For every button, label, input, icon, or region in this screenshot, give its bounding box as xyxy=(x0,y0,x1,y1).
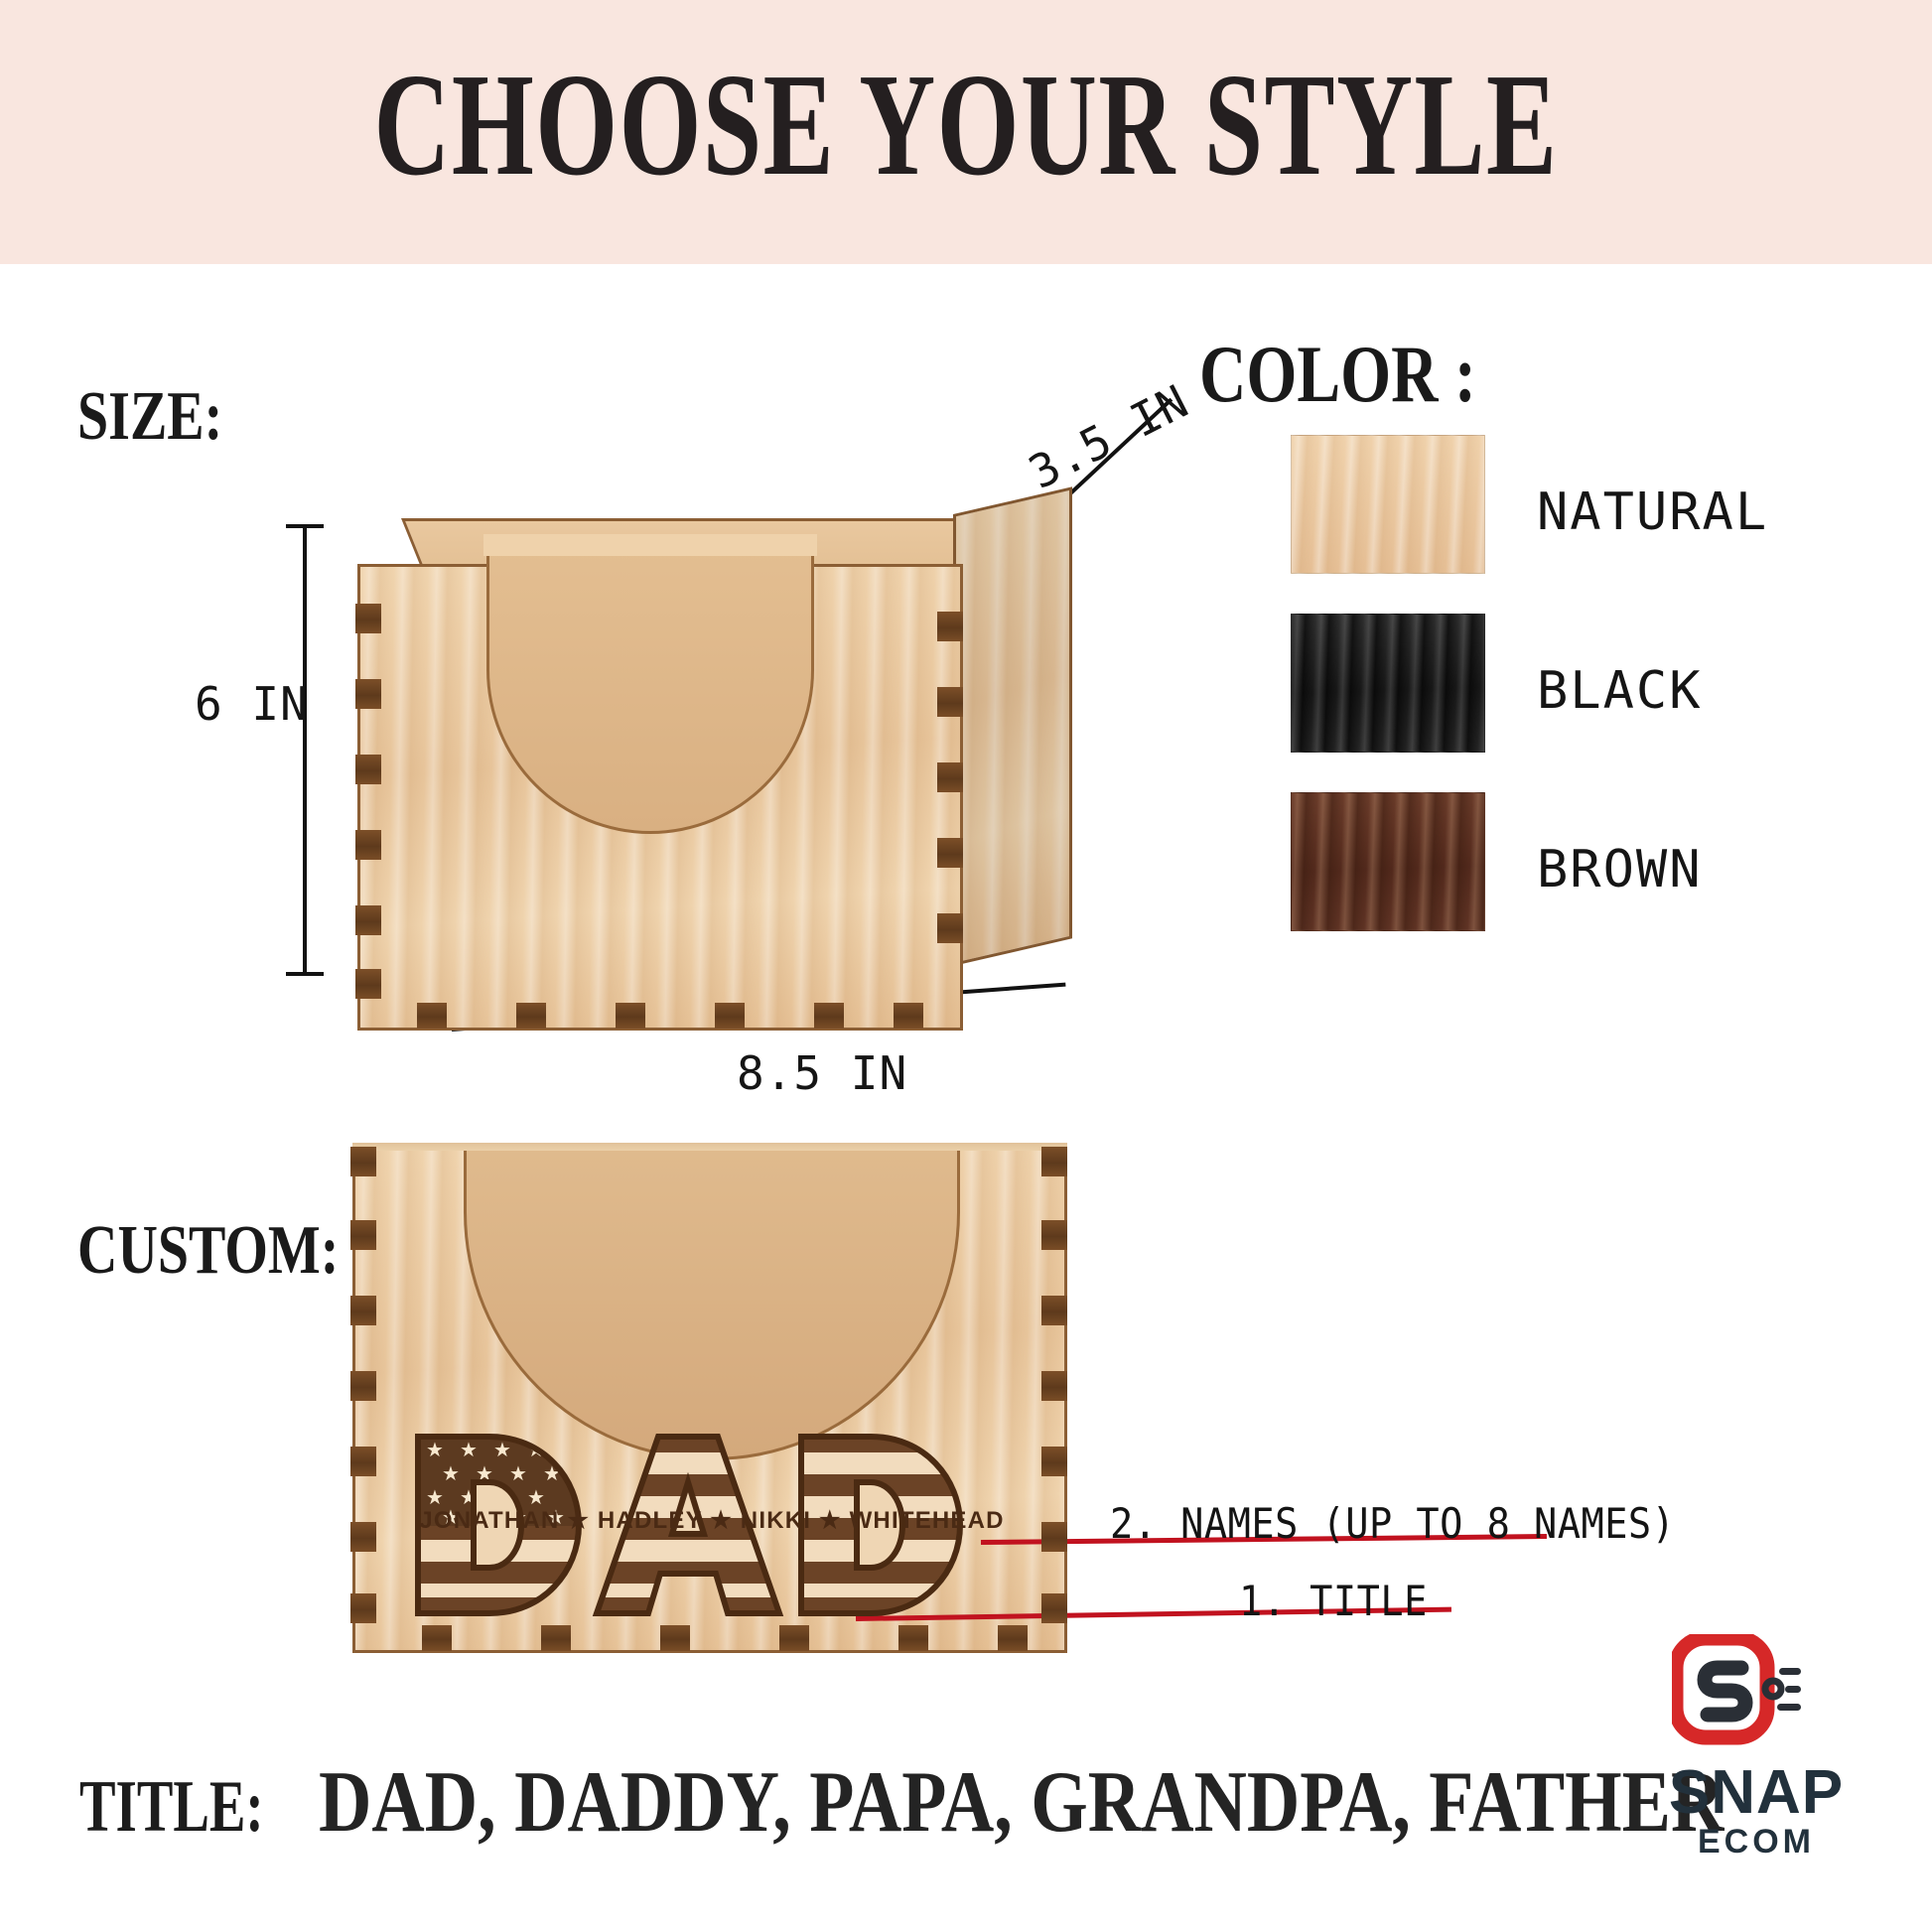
product-image-perspective xyxy=(357,494,1072,1031)
finger-joint xyxy=(541,1625,571,1651)
callout-label-names: 2. NAMES (UP TO 8 NAMES) xyxy=(1110,1499,1675,1548)
box-scoop-mask xyxy=(483,534,817,556)
header-banner: CHOOSE YOUR STYLE xyxy=(0,0,1932,264)
svg-text:★: ★ xyxy=(426,1438,444,1461)
finger-joint xyxy=(1041,1371,1067,1401)
snap-s-logo-icon xyxy=(1672,1634,1801,1759)
color-swatch-brown[interactable] xyxy=(1291,792,1485,931)
finger-joint xyxy=(937,913,963,943)
color-label-natural: NATURAL xyxy=(1537,483,1768,542)
finger-joint xyxy=(1041,1220,1067,1250)
box-top-gap xyxy=(352,1121,1067,1143)
footer-options: DAD, DADDY, PAPA, GRANDPA, FATHER xyxy=(319,1759,1724,1847)
finger-joint xyxy=(355,679,381,709)
brand-name: SNAP xyxy=(1624,1757,1888,1828)
finger-joint xyxy=(660,1625,690,1651)
finger-joint xyxy=(779,1625,809,1651)
finger-joint xyxy=(1041,1447,1067,1476)
finger-joint xyxy=(1041,1593,1067,1623)
width-dimension-label: 8.5 IN xyxy=(737,1046,907,1100)
product-image-custom: ★ ★ ★ ★ ★ ★ ★ ★ ★ ★ ★ ★ ★ ★ ★ xyxy=(352,1137,1067,1653)
color-swatch-black[interactable] xyxy=(1291,614,1485,753)
svg-text:★: ★ xyxy=(509,1461,527,1485)
svg-text:★: ★ xyxy=(460,1438,478,1461)
finger-joint xyxy=(616,1003,645,1029)
finger-joint xyxy=(355,830,381,860)
finger-joint xyxy=(355,969,381,999)
finger-joint xyxy=(898,1625,928,1651)
height-dimension-line xyxy=(303,524,307,976)
finger-joint xyxy=(350,1220,376,1250)
finger-joint xyxy=(422,1625,452,1651)
height-dimension-cap-top xyxy=(286,524,324,528)
color-label-brown: BROWN xyxy=(1537,840,1703,899)
page-title: CHOOSE YOUR STYLE xyxy=(270,52,1661,199)
custom-section-label: CUSTOM: xyxy=(77,1211,339,1291)
brand-watermark: SNAP ECOM xyxy=(1624,1634,1888,1882)
engraved-names-text: JONATHAN ★ HADLEY ★ NIKKI ★ WHITEHEAD xyxy=(419,1506,1004,1535)
footer-prefix: TITLE: xyxy=(79,1770,264,1844)
finger-joint xyxy=(417,1003,447,1029)
finger-joint xyxy=(350,1447,376,1476)
finger-joint xyxy=(1041,1522,1067,1552)
box-side-panel xyxy=(953,486,1072,966)
finger-joint xyxy=(937,612,963,641)
finger-joint xyxy=(350,1593,376,1623)
finger-joint xyxy=(355,755,381,784)
color-section-label: COLOR : xyxy=(1199,328,1476,421)
finger-joint xyxy=(715,1003,745,1029)
finger-joint xyxy=(350,1296,376,1325)
finger-joint xyxy=(350,1147,376,1176)
finger-joint xyxy=(355,604,381,633)
finger-joint xyxy=(894,1003,923,1029)
size-section-label: SIZE: xyxy=(77,377,222,457)
finger-joint xyxy=(937,687,963,717)
finger-joint xyxy=(355,905,381,935)
finger-joint xyxy=(1041,1296,1067,1325)
finger-joint xyxy=(937,838,963,868)
height-dimension-cap-bottom xyxy=(286,972,324,976)
callout-label-title: 1. TITLE xyxy=(1239,1577,1428,1625)
finger-joint xyxy=(937,762,963,792)
finger-joint xyxy=(1041,1147,1067,1176)
finger-joint xyxy=(814,1003,844,1029)
brand-tagline: ECOM xyxy=(1624,1823,1888,1862)
finger-joint xyxy=(350,1371,376,1401)
finger-joint xyxy=(516,1003,546,1029)
svg-text:★: ★ xyxy=(442,1461,460,1485)
engraved-names-strip: JONATHAN ★ HADLEY ★ NIKKI ★ WHITEHEAD xyxy=(414,1500,1010,1540)
finger-joint xyxy=(350,1522,376,1552)
finger-joint xyxy=(998,1625,1028,1651)
color-label-black: BLACK xyxy=(1537,661,1703,721)
color-swatch-natural[interactable] xyxy=(1291,435,1485,574)
height-dimension-label: 6 IN xyxy=(195,677,309,731)
depth-dimension-label: 3.5 IN xyxy=(1021,374,1197,499)
